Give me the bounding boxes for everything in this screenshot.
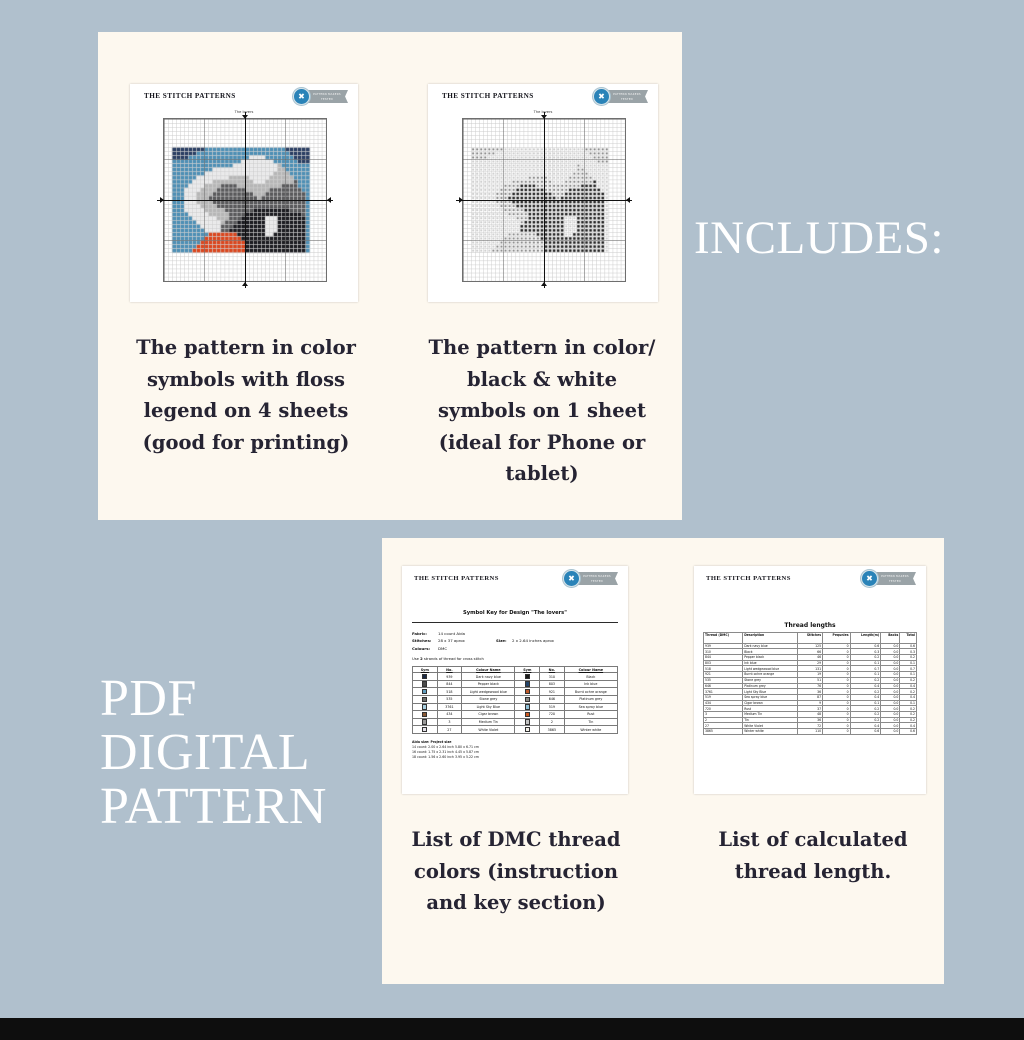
dmc-number: 921: [540, 688, 565, 696]
spec-row: Colours:DMC: [412, 645, 618, 652]
chart-title: The lovers: [130, 110, 358, 114]
table-row: 3865Winter white11000.60.00.6: [704, 729, 917, 735]
sheet-header: THE STITCH PATTERNS ✖ PATTERN MAKERS TES…: [130, 84, 358, 110]
spec-label-2: Size:: [496, 637, 512, 644]
symbol-swatch: [413, 703, 438, 711]
tested-seal-icon: ✖: [563, 570, 580, 587]
symbol-swatch: [515, 695, 540, 703]
brand-title: THE STITCH PATTERNS: [144, 92, 236, 100]
colour-name: White Violet: [462, 726, 515, 734]
dmc-number: 3761: [437, 703, 462, 711]
spec-value: 28 x 37 aprox: [438, 637, 496, 644]
symbol-swatch: [413, 688, 438, 696]
table-row: 434Cigar brown720Rust: [413, 711, 618, 719]
center-arrow-bottom-icon: [541, 282, 547, 286]
thread-description: Winter white: [743, 729, 798, 735]
colour-name: Ink blue: [564, 680, 617, 688]
spec-label: Stitches:: [412, 637, 438, 644]
symbol-swatch: [413, 711, 438, 719]
colour-name: Winter white: [564, 726, 617, 734]
badge-ribbon: PATTERN MAKERS TESTED: [306, 90, 348, 103]
badge-ribbon-line-2: TESTED: [591, 579, 603, 583]
column-header: Stitches: [798, 633, 823, 644]
spec-value-2: 2 x 2.64 inches aprox: [512, 637, 570, 644]
colour-name: Sea spray blue: [564, 703, 617, 711]
thread-lengths-body: Thread lengths Thread (DMC)DescriptionSt…: [703, 622, 917, 790]
caption-bw-symbols: The pattern in color/ black & white symb…: [420, 332, 664, 490]
spec-label: Colours:: [412, 645, 438, 652]
table-row: 27White Violet3865Winter white: [413, 726, 618, 734]
caption-thread-length: List of calculated thread length.: [692, 824, 934, 887]
dmc-number: 519: [540, 703, 565, 711]
table-body: 939Dark navy blue310Black844Pepper black…: [413, 673, 618, 734]
bottom-black-strip: [0, 1018, 1024, 1040]
includes-heading: INCLUDES:: [694, 214, 944, 263]
dmc-number: 434: [437, 711, 462, 719]
pattern-sheet-bw[interactable]: THE STITCH PATTERNS ✖ PATTERN MAKERS TES…: [428, 84, 658, 302]
thread-number: 3865: [704, 729, 743, 735]
table-row: 3761Light Sky Blue519Sea spray blue: [413, 703, 618, 711]
table-row: 844Pepper black803Ink blue: [413, 680, 618, 688]
colour-name: Pepper black: [462, 680, 515, 688]
symbol-key-heading: Symbol Key for Design "The lovers": [412, 610, 618, 616]
symbol-swatch: [413, 673, 438, 681]
badge-ribbon: PATTERN MAKERS TESTED: [606, 90, 648, 103]
colour-name: Dark navy blue: [462, 673, 515, 681]
symbol-swatch: [515, 718, 540, 726]
dmc-number: 3: [437, 718, 462, 726]
length-metres: 0.6: [850, 729, 881, 735]
dmc-number: 310: [540, 673, 565, 681]
chart-title: The lovers: [428, 110, 658, 114]
spec-row: Fabric:14 count Aida: [412, 630, 618, 637]
colour-name: Platinum grey: [564, 695, 617, 703]
chart-area: The lovers: [428, 110, 658, 298]
column-header: Backs: [881, 633, 900, 644]
table-row: 518Light wedgewood blue921Burnt ochre or…: [413, 688, 618, 696]
badge-ribbon: PATTERN MAKERS TESTED: [576, 572, 618, 585]
tested-seal-icon: ✖: [861, 570, 878, 587]
pdf-line-1: PDF: [100, 672, 327, 726]
column-header: Pequnies: [823, 633, 851, 644]
colour-name: Tin: [564, 718, 617, 726]
pequnies-count: 0: [823, 729, 851, 735]
dmc-number: 2: [540, 718, 565, 726]
symbol-swatch: [413, 680, 438, 688]
dmc-number: 518: [437, 688, 462, 696]
stitch-grid-color: [163, 118, 327, 282]
caption-dmc-list: List of DMC thread colors (instruction a…: [402, 824, 630, 919]
center-arrow-bottom-icon: [242, 282, 248, 286]
symbol-swatch: [515, 680, 540, 688]
column-header: Length(m): [850, 633, 881, 644]
symbol-swatch: [413, 695, 438, 703]
symbol-swatch: [515, 711, 540, 719]
table-row: 535Stone grey646Platinum grey: [413, 695, 618, 703]
center-line-vertical: [245, 112, 246, 288]
colour-name: Medium Tin: [462, 718, 515, 726]
pdf-line-3: PATTERN: [100, 780, 327, 834]
sheet-header: THE STITCH PATTERNS ✖ PATTERN MAKERS TES…: [428, 84, 658, 110]
fabric-spec-list: Fabric:14 count AidaStitches:28 x 37 apr…: [412, 630, 618, 652]
badge-ribbon: PATTERN MAKERS TESTED: [874, 572, 916, 585]
spec-label: Fabric:: [412, 630, 438, 637]
colour-name: Light Sky Blue: [462, 703, 515, 711]
center-arrow-left-icon: [459, 197, 463, 203]
symbol-swatch: [515, 673, 540, 681]
tested-badge: ✖ PATTERN MAKERS TESTED: [563, 570, 618, 587]
stitch-grid-bw: [462, 118, 626, 282]
aida-size-line: 18 count: 1.56 x 2.60 inch 3.95 x 5.22 c…: [412, 755, 618, 760]
symbol-swatch: [515, 726, 540, 734]
column-header: Total: [900, 633, 917, 644]
brand-title: THE STITCH PATTERNS: [706, 575, 791, 582]
tested-seal-icon: ✖: [593, 88, 610, 105]
thread-lengths-sheet[interactable]: THE STITCH PATTERNS ✖ PATTERN MAKERS TES…: [694, 566, 926, 794]
dmc-number: 3865: [540, 726, 565, 734]
note-suffix: strands of thread for cross stitch: [423, 657, 484, 661]
pattern-sheet-color[interactable]: THE STITCH PATTERNS ✖ PATTERN MAKERS TES…: [130, 84, 358, 302]
symbol-key-table: SymNo.Colour NameSymNo.Colour Name 939Da…: [412, 666, 618, 734]
colour-name: Stone grey: [462, 695, 515, 703]
column-header: Thread (DMC): [704, 633, 743, 644]
symbol-swatch: [515, 703, 540, 711]
symbol-swatch: [413, 726, 438, 734]
colour-name: Rust: [564, 711, 617, 719]
table-body: 939Dark navy blue12500.60.00.6310Black66…: [704, 643, 917, 734]
backs-metres: 0.0: [881, 729, 900, 735]
symbol-swatch: [413, 718, 438, 726]
badge-ribbon-line-2: TESTED: [889, 579, 901, 583]
caption-color-symbols: The pattern in color symbols with floss …: [130, 332, 362, 458]
colour-name: Cigar brown: [462, 711, 515, 719]
dmc-number: 803: [540, 680, 565, 688]
sheet-header: THE STITCH PATTERNS ✖ PATTERN MAKERS TES…: [402, 566, 628, 592]
tested-badge: ✖ PATTERN MAKERS TESTED: [293, 88, 348, 105]
spec-value: 14 count Aida: [438, 630, 496, 637]
brand-title: THE STITCH PATTERNS: [414, 575, 499, 582]
table-header-row: Thread (DMC)DescriptionStitchesPequniesL…: [704, 633, 917, 644]
thread-lengths-heading: Thread lengths: [703, 622, 917, 629]
table-row: 939Dark navy blue310Black: [413, 673, 618, 681]
symbol-key-body: Symbol Key for Design "The lovers" Fabri…: [412, 596, 618, 790]
dmc-number: 27: [437, 726, 462, 734]
chart-area: The lovers: [130, 110, 358, 298]
colour-name: Light wedgewood blue: [462, 688, 515, 696]
dmc-number: 939: [437, 673, 462, 681]
colour-name: Burnt ochre orange: [564, 688, 617, 696]
dmc-number: 720: [540, 711, 565, 719]
dmc-number: 646: [540, 695, 565, 703]
center-line-vertical: [544, 112, 545, 288]
aida-size-lines: 14 count: 2.00 x 2.64 inch 5.80 x 6.71 c…: [412, 745, 618, 760]
spec-value: DMC: [438, 645, 496, 652]
center-arrow-top-icon: [242, 115, 248, 119]
brand-title: THE STITCH PATTERNS: [442, 92, 534, 100]
note-prefix: Use: [412, 657, 420, 661]
center-arrow-right-icon: [327, 197, 331, 203]
column-header: Description: [743, 633, 798, 644]
strand-note: Use 2 strands of thread for cross stitch: [412, 657, 618, 661]
badge-ribbon-line-2: TESTED: [621, 97, 633, 101]
sheet-header: THE STITCH PATTERNS ✖ PATTERN MAKERS TES…: [694, 566, 926, 592]
tested-badge: ✖ PATTERN MAKERS TESTED: [593, 88, 648, 105]
heading-divider: [412, 622, 618, 623]
spec-row: Stitches:28 x 37 aproxSize:2 x 2.64 inch…: [412, 637, 618, 644]
table-row: 3Medium Tin2Tin: [413, 718, 618, 726]
center-arrow-top-icon: [541, 115, 547, 119]
center-arrow-right-icon: [626, 197, 630, 203]
symbol-key-sheet[interactable]: THE STITCH PATTERNS ✖ PATTERN MAKERS TES…: [402, 566, 628, 794]
dmc-number: 844: [437, 680, 462, 688]
poster-root: INCLUDES: PDF DIGITAL PATTERN The patter…: [0, 0, 1024, 1040]
total-metres: 0.6: [900, 729, 917, 735]
pdf-line-2: DIGITAL: [100, 726, 327, 780]
badge-ribbon-line-2: TESTED: [321, 97, 333, 101]
stitch-count: 110: [798, 729, 823, 735]
center-arrow-left-icon: [160, 197, 164, 203]
thread-lengths-table: Thread (DMC)DescriptionStitchesPequniesL…: [703, 632, 917, 735]
dmc-number: 535: [437, 695, 462, 703]
pdf-digital-pattern-heading: PDF DIGITAL PATTERN: [100, 672, 327, 834]
aida-size-footer: Aida size: Project size 14 count: 2.00 x…: [412, 740, 618, 760]
colour-name: Black: [564, 673, 617, 681]
tested-seal-icon: ✖: [293, 88, 310, 105]
aida-size-title: Aida size: Project size: [412, 740, 451, 744]
tested-badge: ✖ PATTERN MAKERS TESTED: [861, 570, 916, 587]
symbol-swatch: [515, 688, 540, 696]
